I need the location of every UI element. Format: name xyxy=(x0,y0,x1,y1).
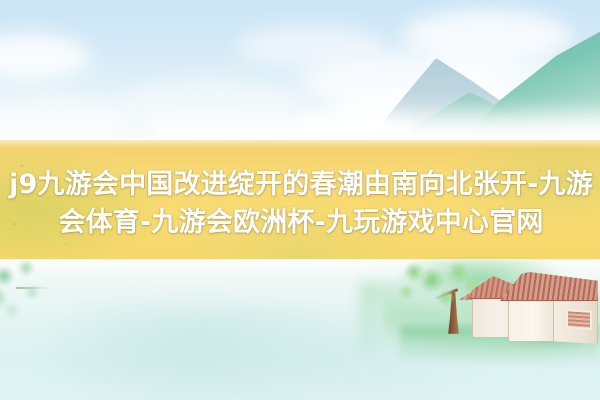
field-haze xyxy=(0,138,600,148)
house-front-roof xyxy=(500,272,598,301)
left-foliage xyxy=(0,258,74,320)
title-line-2: 会体育-九游会欧洲杯-九玩游戏中心官网 xyxy=(0,204,600,242)
house-window xyxy=(566,309,592,330)
farmhouse xyxy=(470,272,600,354)
branch xyxy=(16,287,50,289)
page-title: j9九游会中国改进绽开的春潮由南向北张开-九游 会体育-九游会欧洲杯-九玩游戏中… xyxy=(0,166,600,242)
title-line-1: j9九游会中国改进绽开的春潮由南向北张开-九游 xyxy=(0,166,600,204)
banner-image: j9九游会中国改进绽开的春潮由南向北张开-九游 会体育-九游会欧洲杯-九玩游戏中… xyxy=(0,0,600,400)
